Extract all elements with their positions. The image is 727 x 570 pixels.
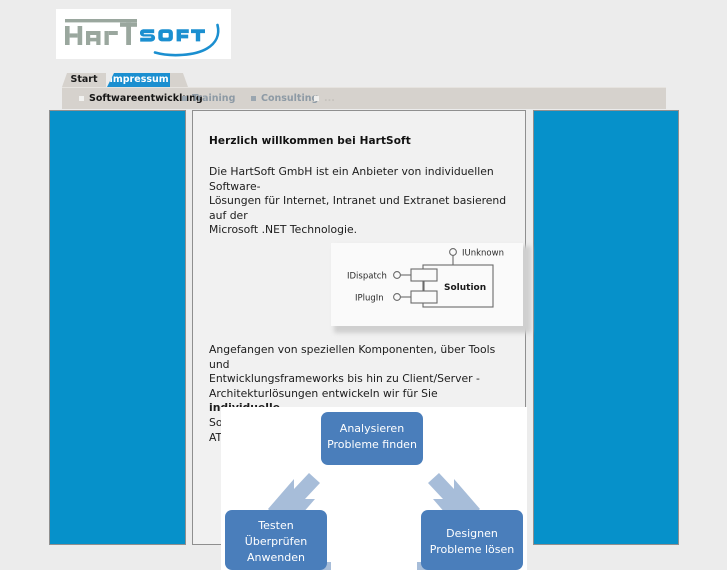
square-bullet-icon: [182, 96, 187, 101]
square-bullet-icon: [251, 96, 256, 101]
process-box-test-line-3: Anwenden: [247, 551, 305, 564]
process-box-analyze-line-2: Probleme finden: [327, 438, 417, 451]
main-content-panel: Herzlich willkommen bei HartSoft Die Har…: [192, 110, 526, 545]
com-diagram-svg: IUnknown IDispatch IPlugIn: [331, 243, 523, 326]
subnav-item-more[interactable]: ...: [314, 92, 335, 105]
process-box-test-line-1: Testen: [257, 519, 293, 532]
com-label-iplugin: IPlugIn: [355, 294, 384, 304]
right-color-panel: [533, 110, 679, 545]
tab-impressum[interactable]: Impressum: [107, 73, 171, 87]
development-cycle-diagram: Analysieren Probleme finden Testen Überp…: [221, 407, 527, 570]
tab-start-label: Start: [70, 74, 97, 85]
primary-tabs: Start Impressum: [62, 73, 666, 87]
process-box-design: [421, 510, 523, 570]
services-line-3-prefix: Architekturlösungen entwickeln wir für S…: [209, 387, 438, 400]
square-bullet-icon: [79, 96, 84, 101]
left-color-panel: [49, 110, 186, 545]
tab-impressum-label: Impressum: [109, 74, 168, 85]
content-band: Herzlich willkommen bei HartSoft Die Har…: [49, 110, 679, 545]
intro-line-1: Die HartSoft GmbH ist ein Anbieter von i…: [209, 165, 494, 193]
com-label-idispatch: IDispatch: [347, 272, 387, 282]
hartsoft-logo[interactable]: [56, 9, 231, 59]
subnav-label-2: Consulting: [261, 92, 318, 105]
development-cycle-svg: Analysieren Probleme finden Testen Überp…: [221, 407, 527, 570]
process-box-analyze-line-1: Analysieren: [340, 422, 404, 435]
main-content: Herzlich willkommen bei HartSoft Die Har…: [209, 135, 511, 238]
sub-navigation: Softwareentwicklung Training Consulting …: [62, 87, 666, 109]
page-title: Herzlich willkommen bei HartSoft: [209, 135, 511, 147]
process-box-test-line-2: Überprüfen: [245, 535, 307, 548]
subnav-item-training[interactable]: Training: [182, 92, 235, 105]
page-root: Start Impressum Softwareentwicklung Trai…: [0, 0, 727, 545]
square-bullet-icon: [314, 96, 319, 101]
intro-line-2: Lösungen für Internet, Intranet und Extr…: [209, 194, 506, 222]
com-label-iunknown: IUnknown: [462, 249, 504, 259]
subnav-label-1: Training: [192, 92, 235, 105]
com-interface-diagram: IUnknown IDispatch IPlugIn: [331, 243, 531, 333]
hartsoft-logo-icon: [56, 9, 231, 59]
site-header: [0, 0, 727, 68]
process-box-design-line-1: Designen: [446, 527, 498, 540]
tab-start[interactable]: Start: [62, 73, 106, 87]
services-line-1: Angefangen von speziellen Komponenten, ü…: [209, 343, 495, 371]
subnav-label-3: ...: [324, 92, 335, 105]
com-label-solution: Solution: [444, 283, 486, 293]
subnav-item-consulting[interactable]: Consulting: [251, 92, 318, 105]
com-diagram-card: IUnknown IDispatch IPlugIn: [331, 243, 523, 326]
intro-line-3: Microsoft .NET Technologie.: [209, 223, 357, 236]
tab-strip-tail: [170, 73, 188, 87]
services-line-2: Entwicklungsframeworks bis hin zu Client…: [209, 372, 480, 385]
intro-paragraph: Die HartSoft GmbH ist ein Anbieter von i…: [209, 165, 511, 238]
